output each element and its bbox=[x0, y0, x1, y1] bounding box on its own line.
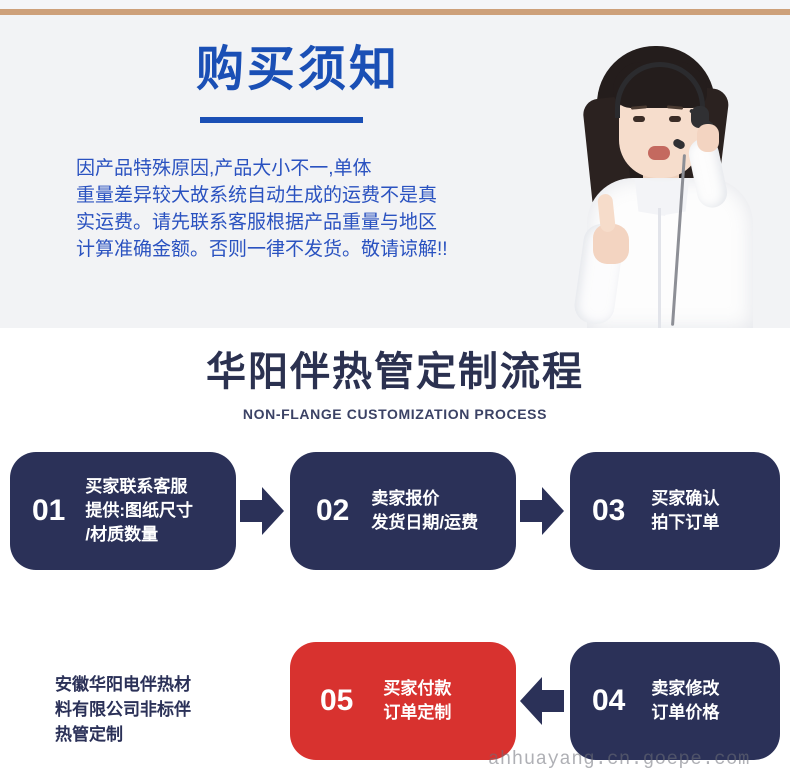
process-step-03-line-1: 买家确认 bbox=[651, 487, 719, 511]
process-heading: 华阳伴热管定制流程 bbox=[0, 350, 790, 394]
agent-hand-right bbox=[697, 124, 719, 152]
process-step-04-text: 卖家修改 订单价格 bbox=[651, 677, 719, 725]
process-step-04[interactable]: 04 卖家修改 订单价格 bbox=[570, 642, 780, 760]
company-note-line-3: 热管定制 bbox=[55, 722, 191, 747]
top-white-strip bbox=[0, 0, 790, 9]
process-step-02-line-2: 发货日期/运费 bbox=[371, 511, 478, 535]
process-step-04-line-2: 订单价格 bbox=[651, 701, 719, 725]
process-step-05-line-2: 订单定制 bbox=[383, 701, 451, 725]
process-subheading: NON-FLANGE CUSTOMIZATION PROCESS bbox=[0, 406, 790, 422]
arrow-left-icon-1 bbox=[520, 675, 564, 727]
notice-body-line-4: 计算准确金额。否则一律不发货。敬请谅解!! bbox=[76, 236, 506, 263]
top-tan-rule bbox=[0, 9, 790, 15]
process-step-01-line-3: /材质数量 bbox=[85, 523, 193, 547]
process-step-05-number: 05 bbox=[320, 686, 353, 716]
promo-page: 购买须知 因产品特殊原因,产品大小不一,单体 重量差异较大故系统自动生成的运费不… bbox=[0, 0, 790, 780]
process-step-01-line-1: 买家联系客服 bbox=[85, 475, 193, 499]
process-step-04-line-1: 卖家修改 bbox=[651, 677, 719, 701]
agent-shirt-placket bbox=[658, 208, 661, 328]
customer-service-agent-image bbox=[545, 28, 790, 328]
process-step-01-text: 买家联系客服 提供:图纸尺寸 /材质数量 bbox=[85, 475, 193, 547]
process-step-01-number: 01 bbox=[32, 496, 65, 526]
purchase-notice-section: 购买须知 因产品特殊原因,产品大小不一,单体 重量差异较大故系统自动生成的运费不… bbox=[0, 0, 790, 328]
process-step-05[interactable]: 05 买家付款 订单定制 bbox=[290, 642, 516, 760]
process-step-03[interactable]: 03 买家确认 拍下订单 bbox=[570, 452, 780, 570]
process-step-03-text: 买家确认 拍下订单 bbox=[651, 487, 719, 535]
process-step-03-line-2: 拍下订单 bbox=[651, 511, 719, 535]
arrow-right-icon-2 bbox=[520, 485, 564, 537]
notice-title-underline bbox=[200, 117, 363, 123]
company-note-line-1: 安徽华阳电伴热材 bbox=[55, 672, 191, 697]
company-note-line-2: 料有限公司非标伴 bbox=[55, 697, 191, 722]
process-step-05-line-1: 买家付款 bbox=[383, 677, 451, 701]
process-step-02-number: 02 bbox=[316, 496, 349, 526]
process-step-05-text: 买家付款 订单定制 bbox=[383, 677, 451, 725]
notice-body: 因产品特殊原因,产品大小不一,单体 重量差异较大故系统自动生成的运费不是真 实运… bbox=[76, 155, 506, 263]
notice-body-line-2: 重量差异较大故系统自动生成的运费不是真 bbox=[76, 182, 506, 209]
agent-mouth bbox=[648, 146, 670, 160]
process-step-02-line-1: 卖家报价 bbox=[371, 487, 478, 511]
process-step-04-number: 04 bbox=[592, 686, 625, 716]
process-step-01[interactable]: 01 买家联系客服 提供:图纸尺寸 /材质数量 bbox=[10, 452, 236, 570]
process-step-02-text: 卖家报价 发货日期/运费 bbox=[371, 487, 478, 535]
notice-body-line-1: 因产品特殊原因,产品大小不一,单体 bbox=[76, 155, 506, 182]
notice-body-line-3: 实运费。请先联系客服根据产品重量与地区 bbox=[76, 209, 506, 236]
arrow-right-icon-1 bbox=[240, 485, 284, 537]
agent-collar-right bbox=[659, 178, 690, 216]
process-step-01-line-2: 提供:图纸尺寸 bbox=[85, 499, 193, 523]
process-step-03-number: 03 bbox=[592, 496, 625, 526]
notice-title: 购买须知 bbox=[196, 46, 400, 94]
process-step-02[interactable]: 02 卖家报价 发货日期/运费 bbox=[290, 452, 516, 570]
company-note: 安徽华阳电伴热材 料有限公司非标伴 热管定制 bbox=[55, 672, 191, 747]
